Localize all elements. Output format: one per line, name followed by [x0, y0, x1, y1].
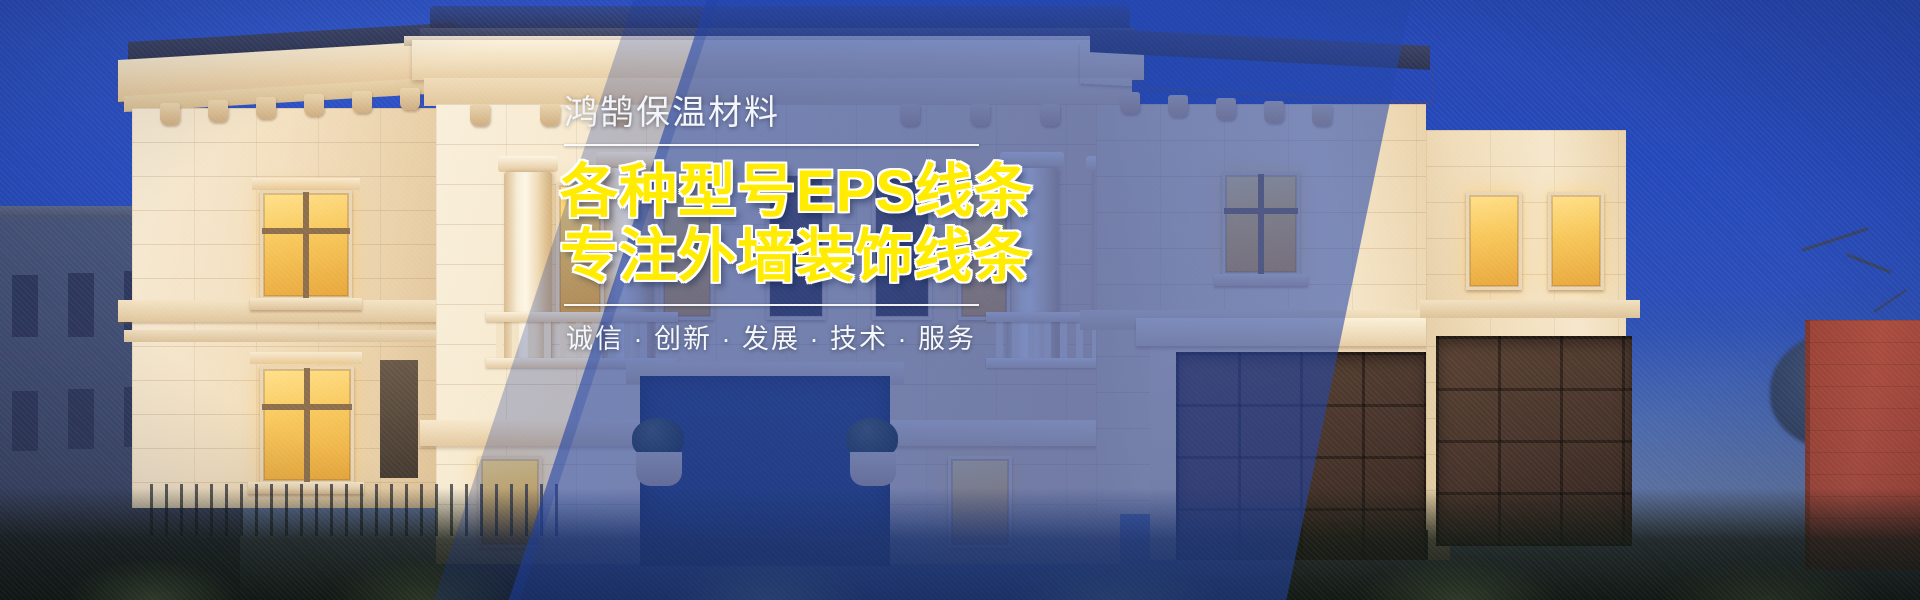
window-frame [1466, 192, 1522, 290]
column-capital [498, 156, 558, 172]
entry-planter-left [636, 452, 682, 486]
divider-bottom [564, 304, 979, 306]
window-mullion [304, 368, 310, 482]
corbel [160, 103, 180, 125]
hero-banner: 鸿鹄保温材料 各种型号EPS线条 专注外墙装饰线条 诚信 · 创新 · 发展 ·… [0, 0, 1920, 600]
headline-line-1: 各种型号EPS线条 [560, 160, 1032, 223]
corbel [1264, 101, 1284, 123]
window-head [250, 352, 362, 364]
left-wing-string-course-2 [124, 330, 464, 342]
window-mullion [262, 404, 352, 410]
window-frame [1548, 192, 1604, 290]
corbel [1040, 104, 1060, 126]
brand-name: 鸿鹄保温材料 [564, 92, 1032, 135]
window-mullion [303, 192, 309, 298]
corbel [256, 97, 276, 119]
corbel [1168, 95, 1188, 117]
corbel [352, 91, 372, 113]
corbel [208, 100, 228, 122]
window-mullion [1258, 174, 1264, 274]
corbel [1312, 104, 1332, 126]
headline-line-2: 专注外墙装饰线条 [560, 225, 1032, 288]
right-end-string-course [1420, 300, 1640, 318]
window-mullion [262, 228, 350, 234]
corbel [1216, 98, 1236, 120]
divider-top [564, 144, 979, 146]
garage-lintel [1136, 318, 1462, 346]
corbel [470, 104, 490, 126]
hedge-foreground [0, 488, 1920, 600]
tagline: 诚信 · 创新 · 发展 · 技术 · 服务 [566, 322, 1032, 357]
window-mullion [1224, 208, 1298, 214]
center-cornice [412, 40, 1144, 80]
window-sill [250, 298, 362, 310]
entry-planter-right [850, 452, 896, 486]
corbel [400, 88, 420, 110]
corbel [1120, 92, 1140, 114]
window-sill [1214, 274, 1308, 286]
corbel [304, 94, 324, 116]
banner-text-block: 鸿鹄保温材料 各种型号EPS线条 专注外墙装饰线条 诚信 · 创新 · 发展 ·… [552, 92, 1032, 357]
window-dark [380, 360, 418, 478]
window-head [252, 178, 360, 190]
